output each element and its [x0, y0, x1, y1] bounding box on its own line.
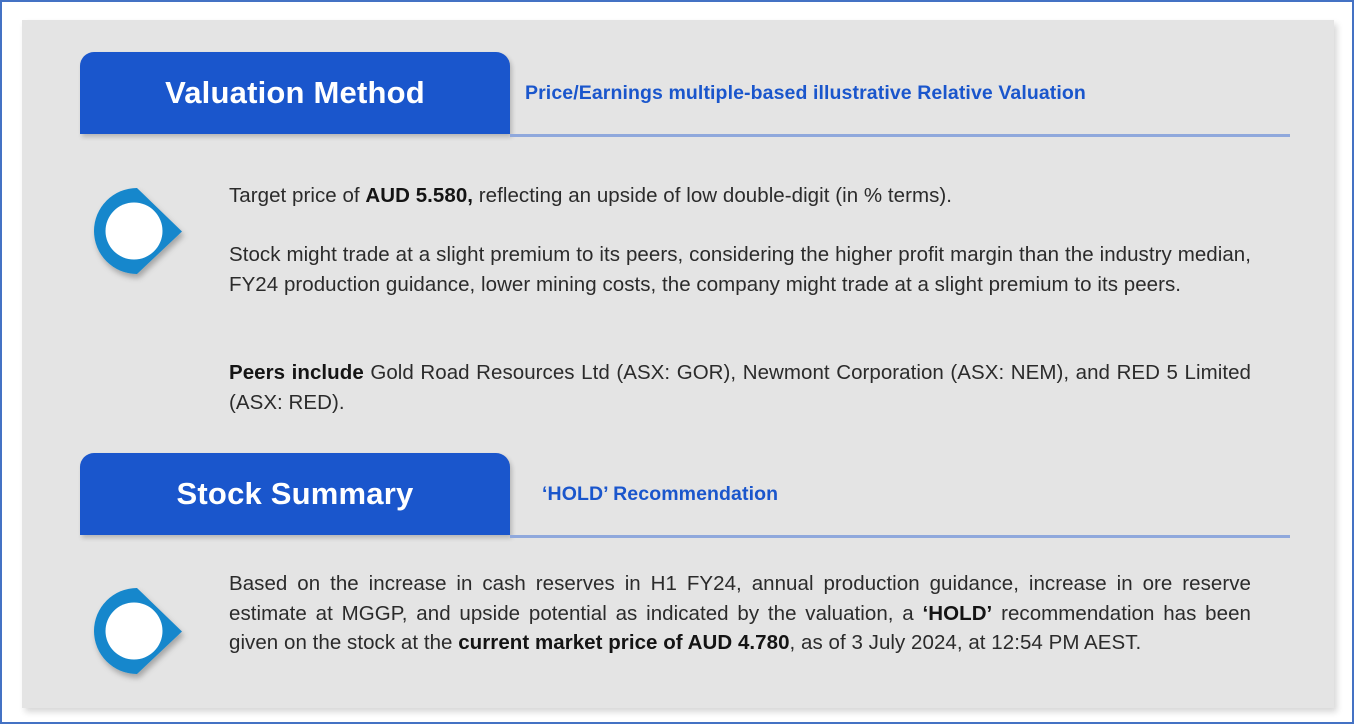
- subtitle-valuation-method: Price/Earnings multiple-based illustrati…: [525, 52, 1086, 134]
- tab-stock-summary[interactable]: Stock Summary: [80, 453, 510, 535]
- subtitle-stock-summary: ‘HOLD’ Recommendation: [542, 453, 778, 535]
- target-price-value: AUD 5.580,: [365, 184, 473, 207]
- paragraph-recommendation: Based on the increase in cash reserves i…: [229, 569, 1251, 658]
- content-panel: Valuation Method Price/Earnings multiple…: [22, 20, 1334, 708]
- section-header-valuation-method: Valuation Method Price/Earnings multiple…: [80, 52, 1290, 142]
- peers-list: Gold Road Resources Ltd (ASX: GOR), Newm…: [229, 361, 1251, 414]
- recommendation-part3: , as of 3 July 2024, at 12:54 PM AEST.: [790, 631, 1142, 654]
- current-market-price: current market price of AUD 4.780: [458, 631, 789, 654]
- tab-valuation-method-label: Valuation Method: [165, 75, 425, 111]
- recommendation-badge: ‘HOLD’: [923, 602, 993, 625]
- tab-valuation-method[interactable]: Valuation Method: [80, 52, 510, 134]
- header-rule-valuation-method: [510, 134, 1290, 137]
- target-price-pre: Target price of: [229, 184, 365, 207]
- tab-stock-summary-label: Stock Summary: [177, 476, 414, 512]
- paragraph-peers: Peers include Gold Road Resources Ltd (A…: [229, 358, 1251, 417]
- teardrop-pin-icon: [88, 186, 184, 276]
- section-header-stock-summary: Stock Summary ‘HOLD’ Recommendation: [80, 453, 1290, 543]
- paragraph-premium: Stock might trade at a slight premium to…: [229, 240, 1251, 299]
- peers-label: Peers include: [229, 361, 364, 384]
- target-price-post: reflecting an upside of low double-digit…: [473, 184, 952, 207]
- page-frame: Valuation Method Price/Earnings multiple…: [0, 0, 1354, 724]
- header-rule-stock-summary: [510, 535, 1290, 538]
- teardrop-pin-icon: [88, 586, 184, 676]
- paragraph-target-price: Target price of AUD 5.580, reflecting an…: [229, 181, 1251, 211]
